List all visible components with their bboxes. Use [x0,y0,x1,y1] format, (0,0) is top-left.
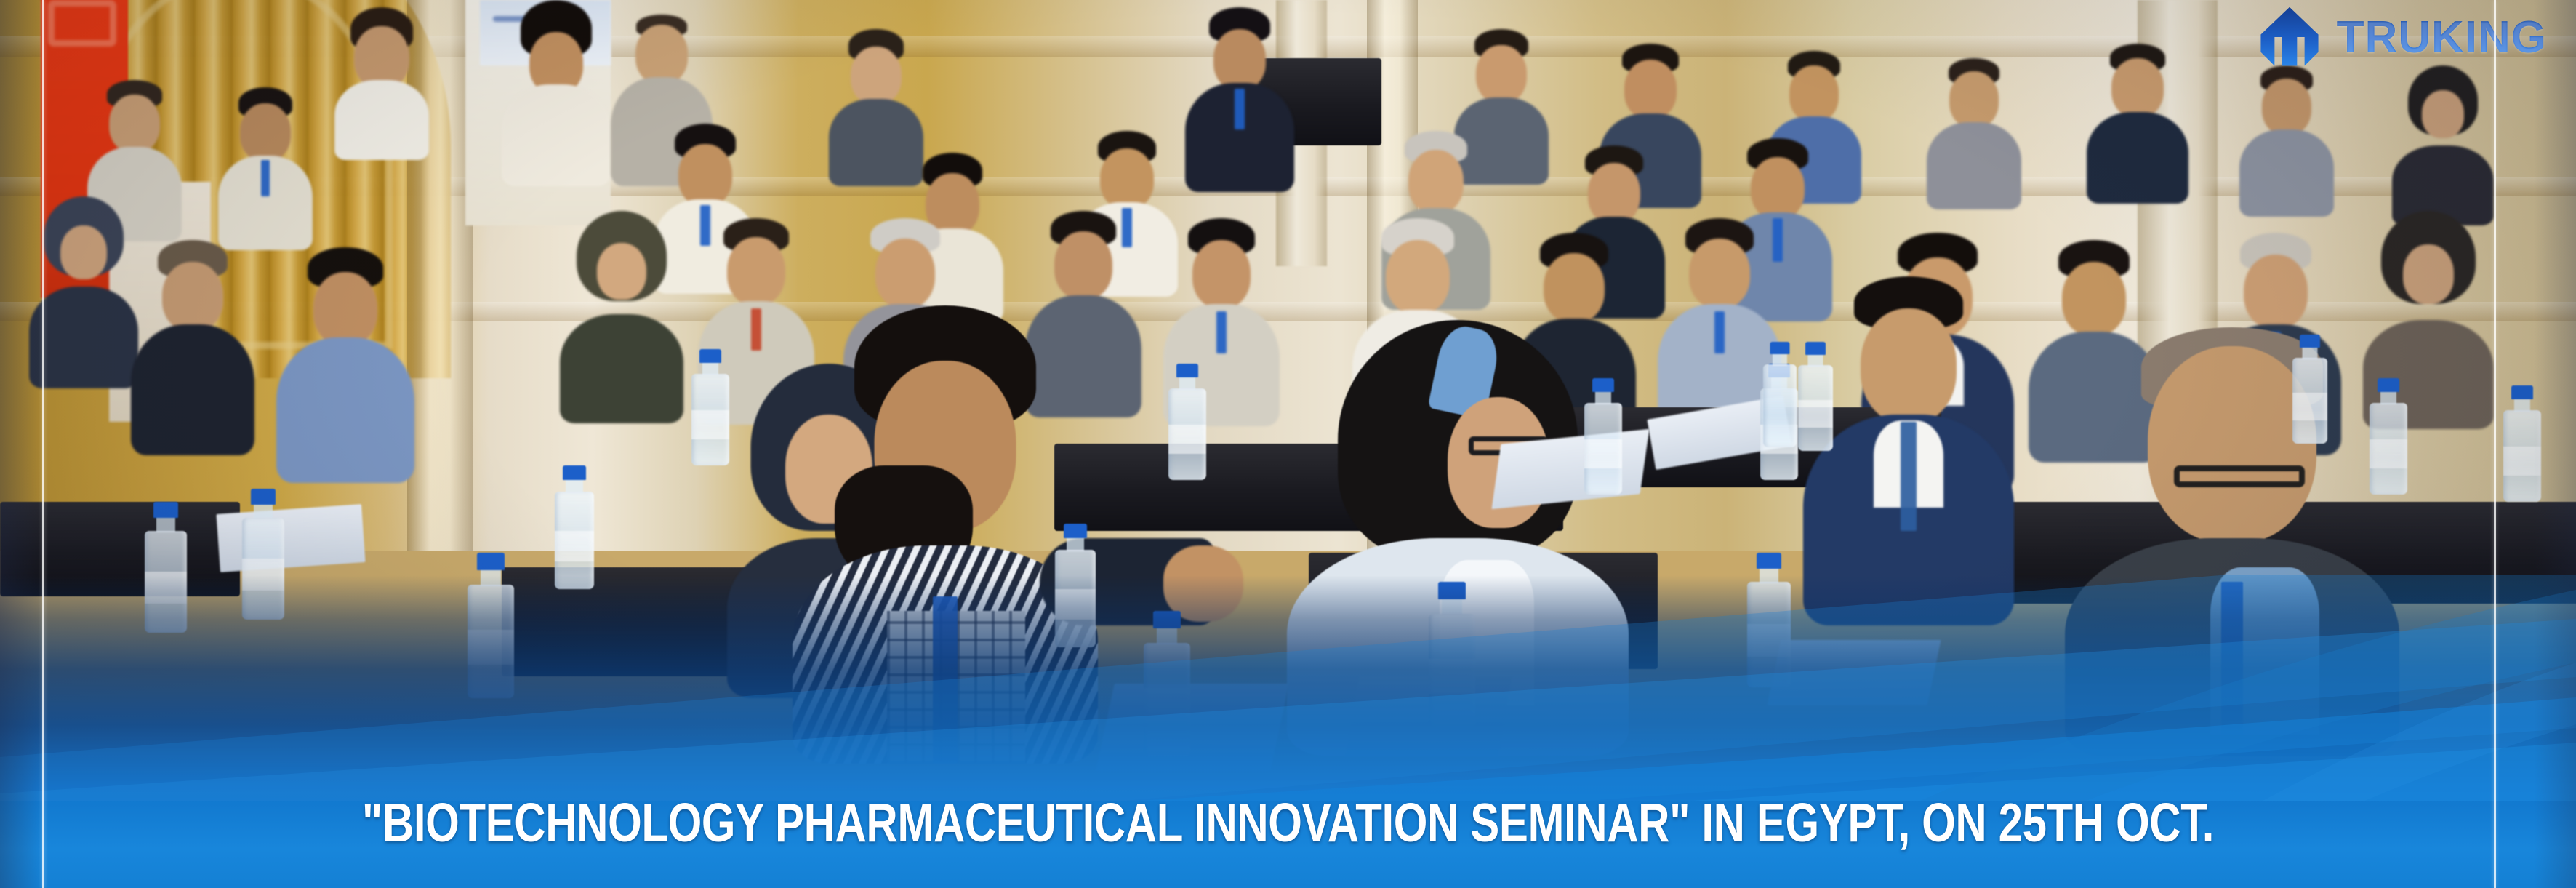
truking-logo: TRUKING [2258,6,2547,68]
paper-document [216,504,365,572]
attendee-standing [1185,7,1294,182]
conference-table [0,502,240,596]
water-bottle [1761,342,1799,447]
paper-document [1096,684,1289,771]
event-banner-image: "BIOTECHNOLOGY PHARMACEUTICAL INNOVATION… [0,0,2576,888]
water-bottle [1053,524,1098,647]
water-bottle [689,349,731,465]
water-bottle [1166,364,1208,480]
water-bottle [2501,385,2543,502]
water-bottle [1427,582,1477,727]
event-caption-text: "BIOTECHNOLOGY PHARMACEUTICAL INNOVATION… [257,796,2318,850]
water-bottle [143,502,189,633]
attendee-headscarf [2392,65,2494,218]
paper-document [1767,640,1941,705]
water-bottle [1745,553,1793,687]
attendee [276,247,414,480]
attendee [334,7,429,153]
water-bottle [240,489,286,620]
attendee [131,240,254,451]
water-bottle [1582,378,1624,495]
water-bottle [2290,335,2330,444]
truking-diamond-arrow-icon [2258,6,2321,68]
truking-wordmark: TRUKING [2337,12,2547,63]
conference-audience-photo [0,0,2576,888]
attendee [218,87,313,240]
attendee-photographer [502,0,611,182]
attendee [2087,44,2188,196]
attendee-headscarf [29,196,138,385]
water-bottle [553,465,596,589]
attendee [2239,65,2334,211]
attendee [1927,58,2021,204]
water-bottle [1141,611,1192,756]
water-bottle [2367,378,2410,495]
attendee-headscarf [560,211,683,422]
foreground-attendee-bearded-man [793,305,1098,756]
water-bottle [1796,342,1835,451]
foreground-attendee-bald-man [2065,327,2399,749]
water-bottle [465,553,516,698]
